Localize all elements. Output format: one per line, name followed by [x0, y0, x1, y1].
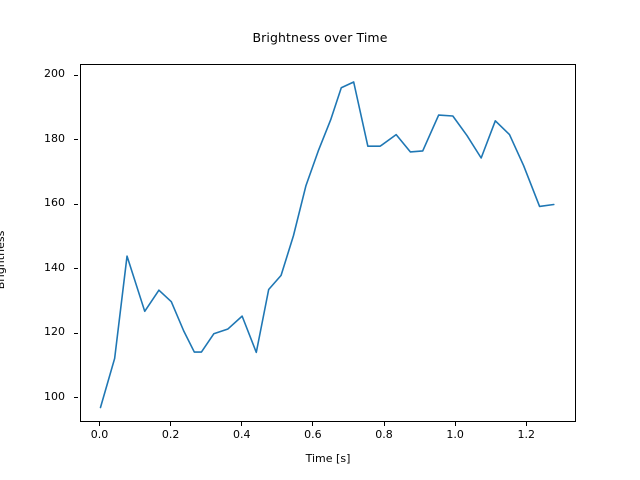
x-tick-label: 0.2	[141, 428, 201, 441]
y-tick-mark	[74, 139, 78, 140]
y-tick-label: 140	[5, 261, 74, 274]
x-tick-label: 0.4	[212, 428, 272, 441]
y-tick-label: 120	[5, 325, 74, 338]
x-tick-mark	[526, 422, 527, 426]
y-tick-label: 200	[5, 67, 74, 80]
y-tick-mark	[74, 268, 78, 269]
y-tick-mark	[74, 204, 78, 205]
x-tick-mark	[384, 422, 385, 426]
x-tick-mark	[170, 422, 171, 426]
chart-figure: Brightness over Time Brightness 10012014…	[0, 0, 640, 480]
x-tick-label: 0.0	[70, 428, 130, 441]
x-tick-label: 0.6	[283, 428, 343, 441]
y-tick-label: 180	[5, 132, 74, 145]
x-tick-label: 1.2	[496, 428, 556, 441]
x-tick-label: 0.8	[354, 428, 414, 441]
brightness-polyline	[100, 82, 553, 408]
line-series-brightness	[81, 65, 575, 421]
x-tick-mark	[241, 422, 242, 426]
y-tick-label: 160	[5, 196, 74, 209]
x-tick-label: 1.0	[425, 428, 485, 441]
y-tick-mark	[74, 75, 78, 76]
x-tick-mark	[312, 422, 313, 426]
x-axis-label: Time [s]	[80, 452, 576, 465]
chart-title: Brightness over Time	[0, 30, 640, 45]
y-tick-mark	[74, 397, 78, 398]
plot-area	[80, 64, 576, 422]
y-tick-mark	[74, 333, 78, 334]
y-tick-label: 100	[5, 390, 74, 403]
x-tick-mark	[99, 422, 100, 426]
x-tick-mark	[455, 422, 456, 426]
